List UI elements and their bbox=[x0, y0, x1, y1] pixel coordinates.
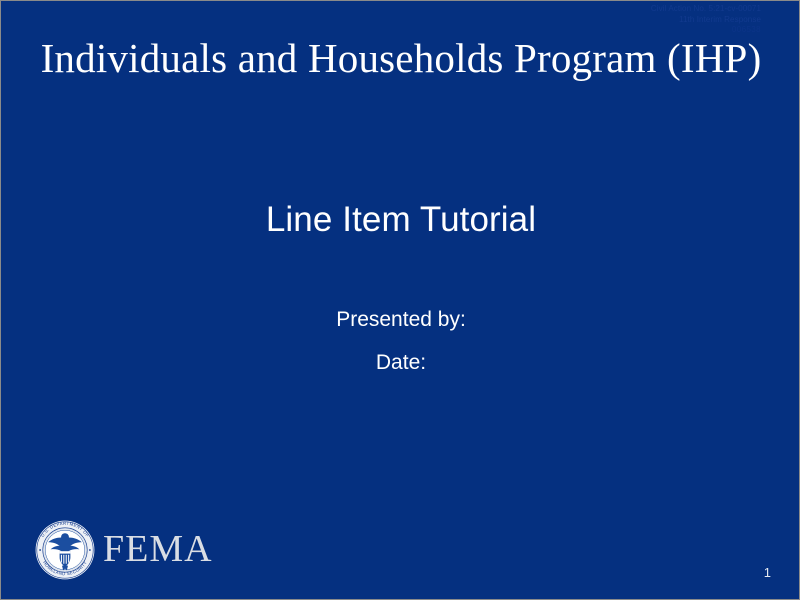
fema-logo: U.S. DEPARTMENT OF HOMELAND SECURITY bbox=[35, 519, 213, 581]
page-number: 1 bbox=[764, 565, 771, 581]
stamp-response-line: 11th Interim Response bbox=[541, 15, 761, 26]
slide-title: Individuals and Households Program (IHP) bbox=[15, 33, 787, 83]
dhs-seal-icon: U.S. DEPARTMENT OF HOMELAND SECURITY bbox=[35, 520, 95, 580]
date-label: Date: bbox=[1, 349, 800, 377]
litigation-stamp: Civil Action No. 5:21-cv-00071 11th Inte… bbox=[541, 4, 761, 36]
slide-subtitle: Line Item Tutorial bbox=[1, 197, 800, 243]
stamp-case-number: Civil Action No. 5:21-cv-00071 bbox=[541, 4, 761, 15]
presentation-slide: Civil Action No. 5:21-cv-00071 11th Inte… bbox=[0, 0, 800, 600]
fema-wordmark: FEMA bbox=[103, 530, 213, 570]
presented-by-label: Presented by: bbox=[1, 306, 800, 334]
